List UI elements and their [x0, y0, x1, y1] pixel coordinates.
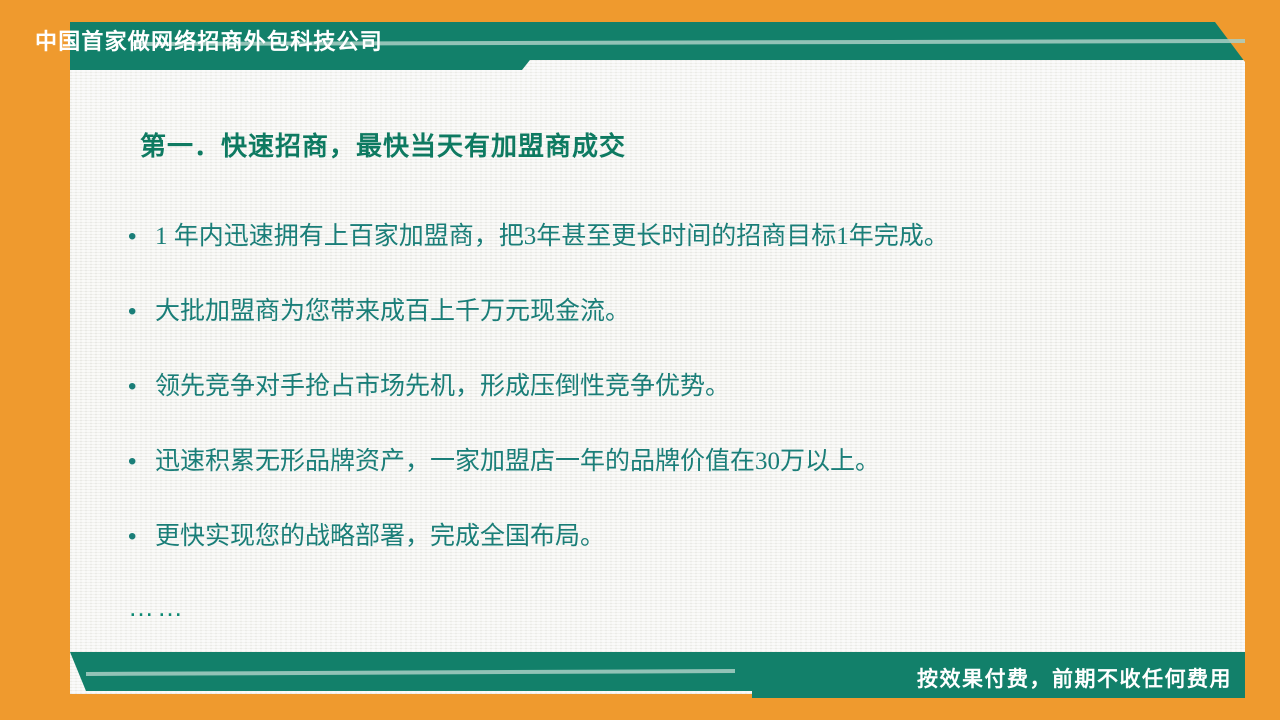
bullet-dot-icon: • — [128, 525, 155, 549]
bullet-dot-icon: • — [128, 450, 155, 474]
bullet-dot-icon: • — [128, 375, 155, 399]
company-tagline: 中国首家做网络招商外包科技公司 — [35, 31, 383, 53]
bullet-item-2: • 大批加盟商为您带来成百上千万元现金流。 — [128, 299, 1238, 374]
slide-heading: 第一．快速招商，最快当天有加盟商成交 — [140, 133, 626, 159]
continuation-ellipsis: …… — [128, 594, 186, 620]
bullet-item-4: • 迅速积累无形品牌资产，一家加盟店一年的品牌价值在30万以上。 — [128, 449, 1238, 524]
benefit-bullet-list: • 1 年内迅速拥有上百家加盟商，把3年甚至更长时间的招商目标1年完成。 • 大… — [128, 224, 1238, 599]
slide-content: 第一．快速招商，最快当天有加盟商成交 • 1 年内迅速拥有上百家加盟商，把3年甚… — [70, 96, 1245, 626]
bullet-text: 迅速积累无形品牌资产，一家加盟店一年的品牌价值在30万以上。 — [155, 449, 880, 474]
bullet-item-1: • 1 年内迅速拥有上百家加盟商，把3年甚至更长时间的招商目标1年完成。 — [128, 224, 1238, 299]
bullet-item-5: • 更快实现您的战略部署，完成全国布局。 — [128, 524, 1238, 599]
footer-note: 按效果付费，前期不收任何费用 — [917, 669, 1232, 690]
bullet-item-3: • 领先竞争对手抢占市场先机，形成压倒性竞争优势。 — [128, 374, 1238, 449]
bullet-text: 1 年内迅速拥有上百家加盟商，把3年甚至更长时间的招商目标1年完成。 — [155, 224, 949, 249]
bullet-dot-icon: • — [128, 225, 155, 249]
slide-canvas: 中国首家做网络招商外包科技公司 第一．快速招商，最快当天有加盟商成交 • 1 年… — [0, 0, 1280, 720]
bullet-text: 大批加盟商为您带来成百上千万元现金流。 — [155, 299, 630, 324]
bullet-dot-icon: • — [128, 300, 155, 324]
bullet-text: 领先竞争对手抢占市场先机，形成压倒性竞争优势。 — [155, 374, 730, 399]
bullet-text: 更快实现您的战略部署，完成全国布局。 — [155, 524, 605, 549]
